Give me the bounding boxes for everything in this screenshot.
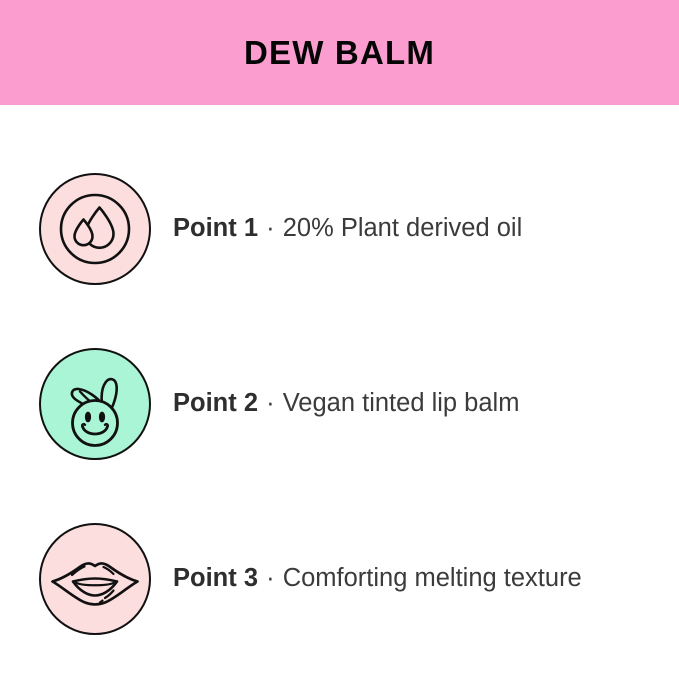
point-label: Point 3 [173, 564, 258, 592]
list-item: Point 3 · Comforting melting texture [0, 491, 679, 666]
feature-points-list: Point 1 · 20% Plant derived oil [0, 105, 679, 679]
bunny-smiley-icon [47, 356, 143, 452]
header-banner: DEW BALM [0, 0, 679, 105]
point-text: Point 3 · Comforting melting texture [173, 564, 582, 593]
point-text: Point 1 · 20% Plant derived oil [173, 214, 522, 243]
list-item: Point 1 · 20% Plant derived oil [0, 141, 679, 316]
bunny-smiley-icon-badge [39, 348, 151, 460]
point-separator: · [265, 564, 276, 592]
lips-icon [43, 531, 147, 627]
water-drops-icon [47, 181, 143, 277]
point-description: Comforting melting texture [283, 564, 582, 592]
point-separator: · [265, 389, 276, 417]
product-feature-card: DEW BALM Point 1 · 20% Plant derived oil [0, 0, 679, 679]
point-separator: · [265, 214, 276, 242]
point-label: Point 1 [173, 214, 258, 242]
water-drops-icon-badge [39, 173, 151, 285]
point-description: Vegan tinted lip balm [283, 389, 520, 417]
page-title: DEW BALM [244, 36, 435, 69]
point-text: Point 2 · Vegan tinted lip balm [173, 389, 519, 418]
point-label: Point 2 [173, 389, 258, 417]
lips-icon-badge [39, 523, 151, 635]
list-item: Point 2 · Vegan tinted lip balm [0, 316, 679, 491]
point-description: 20% Plant derived oil [283, 214, 523, 242]
